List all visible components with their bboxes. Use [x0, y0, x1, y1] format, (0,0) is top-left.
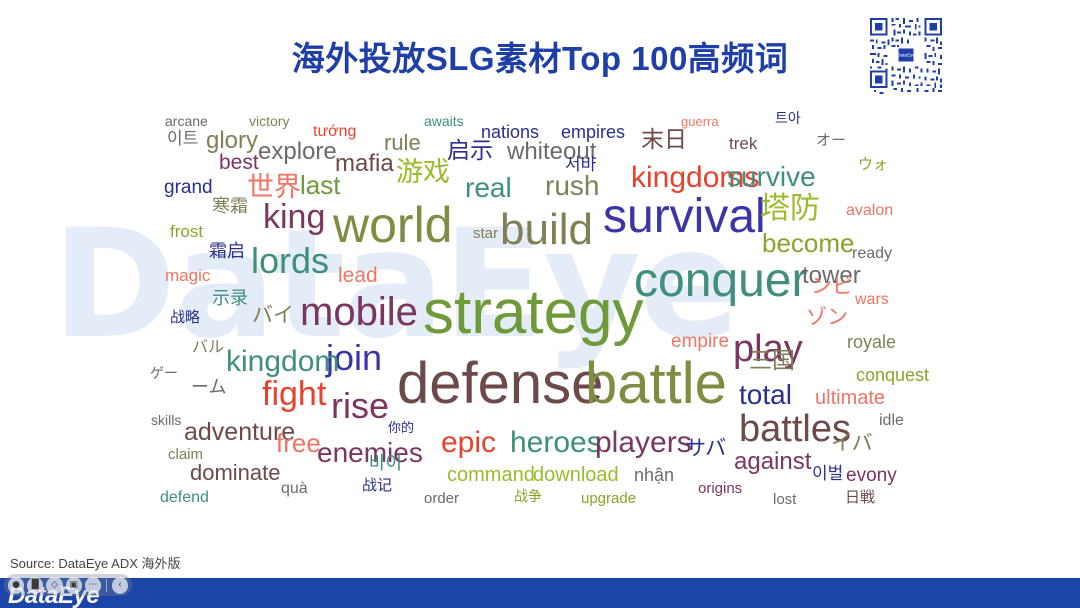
word-cloud-term: サバ — [685, 438, 726, 459]
word-cloud-term: lords — [251, 243, 329, 279]
word-cloud-term: mafia — [335, 152, 394, 176]
word-cloud-term: claim — [168, 447, 203, 462]
word-cloud-term: 你的 — [388, 422, 414, 435]
word-cloud-term: 战记 — [362, 478, 392, 493]
footer-bar — [0, 578, 1080, 608]
word-cloud-term: conquer — [634, 257, 807, 305]
word-cloud-term: world — [333, 200, 452, 250]
word-cloud-term: 이트 — [167, 131, 198, 148]
word-cloud-term: 启示 — [447, 140, 493, 163]
word-cloud-term: 日戦 — [845, 490, 875, 505]
word-cloud-term: against — [734, 450, 811, 474]
word-cloud-term: heroes — [510, 428, 602, 458]
word-cloud-term: バイ — [252, 305, 294, 326]
word-cloud-term: 서바 — [565, 157, 596, 174]
word-cloud-term: battle — [585, 355, 727, 413]
word-cloud-term: 霜启 — [209, 243, 245, 261]
word-cloud-term: king — [263, 200, 325, 234]
word-cloud-term: 战争 — [514, 490, 542, 504]
word-cloud-term: 塔防 — [760, 194, 820, 224]
source-caption: Source: DataEye ADX 海外版 — [10, 553, 181, 572]
collapse-icon[interactable]: ‹ — [112, 577, 128, 594]
word-cloud-term: ゾン — [806, 307, 848, 328]
word-cloud-term: ーム — [191, 379, 226, 397]
word-cloud-term: free — [276, 430, 321, 456]
word-cloud-term: total — [739, 381, 792, 409]
word-cloud-term: explore — [258, 140, 337, 164]
word-cloud-term: defense — [397, 355, 603, 413]
word-cloud-term: upgrade — [581, 491, 636, 506]
word-cloud-term: rush — [545, 172, 599, 200]
word-cloud-term: origins — [698, 481, 742, 496]
word-cloud-term: quà — [281, 481, 308, 497]
highlighter-icon[interactable]: █ — [27, 577, 43, 594]
word-cloud-term: avalon — [846, 203, 893, 219]
word-cloud-term: trek — [729, 135, 757, 152]
word-cloud-term: download — [533, 465, 619, 485]
slide-root: 海外投放SLG素材Top 100高频词 — [0, 0, 1080, 608]
word-cloud-term: ready — [852, 246, 892, 262]
word-cloud-term: epic — [441, 428, 496, 458]
word-cloud-term: conquest — [856, 366, 929, 384]
word-cloud-term: empire — [671, 332, 729, 351]
word-cloud-term: empires — [561, 123, 625, 141]
word-cloud-term: wars — [855, 292, 889, 308]
word-cloud: strategydefensebattlesurvivalconquerworl… — [0, 100, 1080, 520]
annotation-toolbar[interactable]: ● █ ◇ ▣ ⋯ ‹ — [4, 574, 132, 596]
word-cloud-term: kingdom — [226, 347, 339, 377]
word-cloud-term: strategy — [423, 282, 644, 344]
more-icon[interactable]: ⋯ — [85, 577, 101, 594]
word-cloud-term: 世界 — [247, 174, 301, 201]
toolbar-divider — [106, 579, 107, 592]
word-cloud-term: ゲー — [150, 367, 178, 381]
word-cloud-term: idle — [879, 413, 904, 429]
word-cloud-term: lost — [773, 492, 796, 507]
word-cloud-term: order — [424, 491, 459, 506]
word-cloud-term: dominate — [190, 462, 281, 484]
word-cloud-term: ultimate — [815, 388, 885, 408]
word-cloud-term: rule — [384, 132, 421, 154]
word-cloud-term: survival — [603, 193, 766, 241]
word-cloud-term: 바이 — [369, 455, 402, 473]
word-cloud-term: best — [219, 152, 259, 173]
word-cloud-term: players — [595, 428, 692, 458]
word-cloud-term: fight — [262, 377, 326, 411]
word-cloud-term: become — [762, 230, 855, 256]
eraser-icon[interactable]: ◇ — [46, 577, 62, 594]
qr-code-graphic: DataEye — [866, 14, 946, 96]
word-cloud-term: royale — [847, 333, 896, 351]
word-cloud-term: defend — [160, 490, 209, 506]
word-cloud-term: frost — [170, 223, 203, 240]
word-cloud-term: バル — [192, 339, 224, 355]
word-cloud-term: tướng — [313, 124, 356, 140]
word-cloud-term: magic — [165, 267, 210, 284]
word-cloud-term: lead — [338, 265, 378, 286]
word-cloud-term: 三国 — [749, 350, 795, 373]
word-cloud-term: 末日 — [641, 129, 687, 152]
shapes-icon[interactable]: ▣ — [66, 577, 82, 594]
word-cloud-term: build — [500, 208, 593, 252]
word-cloud-term: star — [473, 226, 498, 241]
word-cloud-term: 트아 — [775, 112, 801, 126]
word-cloud-term: 示录 — [212, 290, 248, 308]
word-cloud-term: 战略 — [170, 310, 200, 325]
word-cloud-term: skills — [151, 413, 181, 427]
word-cloud-term: 寒霜 — [212, 198, 248, 216]
word-cloud-term: ウォ — [858, 157, 888, 172]
svg-text:DataEye: DataEye — [897, 52, 915, 57]
qr-code[interactable]: DataEye — [866, 14, 946, 96]
word-cloud-term: awaits — [424, 114, 464, 128]
word-cloud-term: イバ — [831, 433, 873, 454]
word-cloud-term: 이벌 — [812, 466, 843, 483]
word-cloud-term: mobile — [300, 292, 418, 332]
word-cloud-term: nhận — [634, 466, 674, 484]
word-cloud-term: 游戏 — [396, 159, 450, 186]
word-cloud-term: grand — [164, 178, 213, 197]
word-cloud-term: evony — [846, 466, 897, 485]
word-cloud-term: arcane — [165, 114, 208, 128]
word-cloud-term: オー — [816, 133, 846, 148]
word-cloud-term: command — [447, 465, 535, 485]
word-cloud-term: real — [465, 174, 512, 202]
word-cloud-term: glory — [206, 129, 258, 153]
word-cloud-term: rise — [331, 388, 389, 424]
word-cloud-term: victory — [249, 114, 289, 128]
word-cloud-term: survive — [727, 163, 816, 191]
word-cloud-term: last — [300, 172, 340, 198]
pen-icon[interactable]: ● — [8, 577, 24, 594]
word-cloud-term: ンビ — [811, 276, 853, 297]
